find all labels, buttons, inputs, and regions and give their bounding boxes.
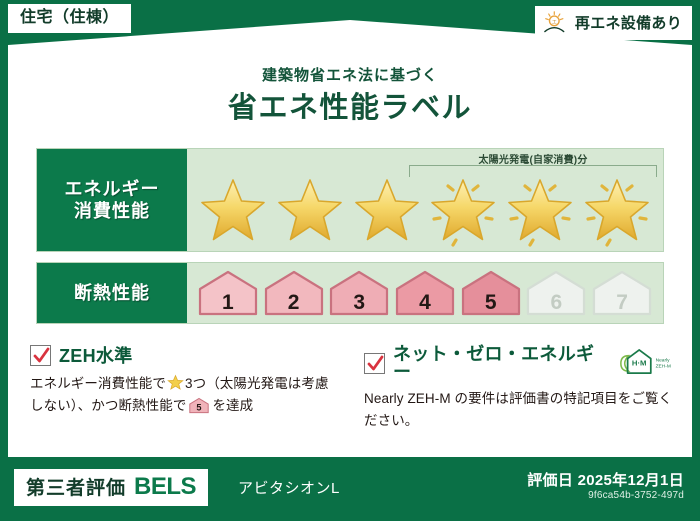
star-3: [350, 174, 424, 248]
renewable-tag-label: 再エネ設備あり: [575, 16, 682, 31]
claims-section: ZEH水準 エネルギー消費性能で3つ（太陽光発電は考慮しない）、かつ断熱性能で5…: [30, 345, 674, 433]
svg-text:エ: エ: [552, 18, 557, 25]
insulation-grades-area: 1 2 3 4 5 6 7: [187, 263, 663, 323]
energy-label-line2: 消費性能: [74, 200, 150, 223]
star-rating: [187, 171, 663, 251]
star-1: [196, 174, 270, 248]
net-zero-energy-description: Nearly ZEH-M の要件は評価書の特記項目をご覧ください。: [364, 388, 674, 433]
zeh-level-title: ZEH水準: [59, 347, 133, 365]
zeh-text-before: エネルギー消費性能で: [30, 376, 166, 391]
star-2: [273, 174, 347, 248]
energy-stars-area: 太陽光発電(自家消費)分: [187, 149, 663, 251]
insulation-grade-5: 5: [460, 269, 522, 317]
star-6: [580, 174, 654, 248]
bels-badge-jp: 第三者評価: [26, 473, 126, 500]
bels-badge: 第三者評価 BELS: [14, 469, 208, 506]
svg-text:H·M: H·M: [632, 358, 647, 367]
nearly-zeh-m-house-logo: H·M Nearly ZEH-M: [612, 347, 674, 380]
star-5: [503, 174, 577, 248]
grade-number: 2: [263, 292, 325, 313]
net-zero-energy-checkbox[interactable]: [364, 353, 385, 374]
zeh-level-checkbox[interactable]: [30, 345, 51, 366]
insulation-grade-scale: 1 2 3 4 5 6 7: [187, 263, 663, 323]
grade-number: 6: [525, 292, 587, 313]
insulation-grade-6: 6: [525, 269, 587, 317]
building-name: アビタシオンL: [238, 477, 340, 498]
insulation-grade-1: 1: [197, 269, 259, 317]
zeh-level-description: エネルギー消費性能で3つ（太陽光発電は考慮しない）、かつ断熱性能で5を達成: [30, 373, 340, 418]
insulation-label-text: 断熱性能: [74, 282, 150, 305]
grade-number: 7: [591, 292, 653, 313]
insulation-grade-4: 4: [394, 269, 456, 317]
grade-number: 5: [460, 292, 522, 313]
insulation-grade-3: 3: [328, 269, 390, 317]
solar-generation-note: 太陽光発電(自家消費)分: [409, 151, 657, 166]
insulation-grade-2: 2: [263, 269, 325, 317]
footer-bar: 第三者評価 BELS アビタシオンL 評価日 2025年12月1日 9f6ca5…: [0, 457, 700, 521]
evaluation-id: 9f6ca54b-3752-497d: [588, 490, 684, 501]
bels-energy-label: 住宅（住棟） エ 再エネ設備あり 建築物省エネ法に基づく 省エネ性能ラベル エネ: [0, 0, 700, 521]
sun-renewable-icon: エ: [543, 11, 569, 35]
nze-claim-header: ネット・ゼロ・エネルギー H·M Nearly ZEH-M: [364, 345, 674, 381]
svg-text:5: 5: [197, 403, 202, 413]
claim-net-zero-energy: ネット・ゼロ・エネルギー H·M Nearly ZEH-M Nearly ZEH…: [364, 345, 674, 433]
grade-number: 3: [328, 292, 390, 313]
bels-badge-en: BELS: [134, 473, 196, 501]
energy-performance-row: エネルギー 消費性能 太陽光発電(自家消費)分: [36, 148, 664, 252]
energy-label-line1: エネルギー: [65, 178, 160, 201]
insulation-performance-label: 断熱性能: [37, 263, 187, 323]
renewable-equipment-tag: エ 再エネ設備あり: [535, 6, 692, 40]
energy-performance-label: エネルギー 消費性能: [37, 149, 187, 251]
dwelling-type-tag: 住宅（住棟）: [8, 4, 131, 33]
insulation-performance-row: 断熱性能 1 2 3 4 5 6 7: [36, 262, 664, 324]
net-zero-energy-title: ネット・ゼロ・エネルギー: [393, 345, 604, 381]
zeh-claim-header: ZEH水準: [30, 345, 340, 366]
inline-grade-badge: 5: [188, 397, 210, 414]
insulation-grade-7: 7: [591, 269, 653, 317]
label-title: 省エネ性能ラベル: [0, 84, 700, 126]
grade-number: 4: [394, 292, 456, 313]
svg-text:Nearly: Nearly: [656, 357, 671, 363]
check-icon: [367, 355, 384, 373]
zeh-text-after: を達成: [212, 398, 253, 413]
star-4: [426, 174, 500, 248]
grade-number: 1: [197, 292, 259, 313]
inline-star-icon: [167, 374, 184, 391]
label-subtitle: 建築物省エネ法に基づく: [0, 64, 700, 85]
check-icon: [33, 347, 50, 365]
svg-text:ZEH-M: ZEH-M: [656, 363, 671, 369]
claim-zeh-level: ZEH水準 エネルギー消費性能で3つ（太陽光発電は考慮しない）、かつ断熱性能で5…: [30, 345, 340, 433]
evaluation-date: 評価日 2025年12月1日: [527, 469, 684, 490]
